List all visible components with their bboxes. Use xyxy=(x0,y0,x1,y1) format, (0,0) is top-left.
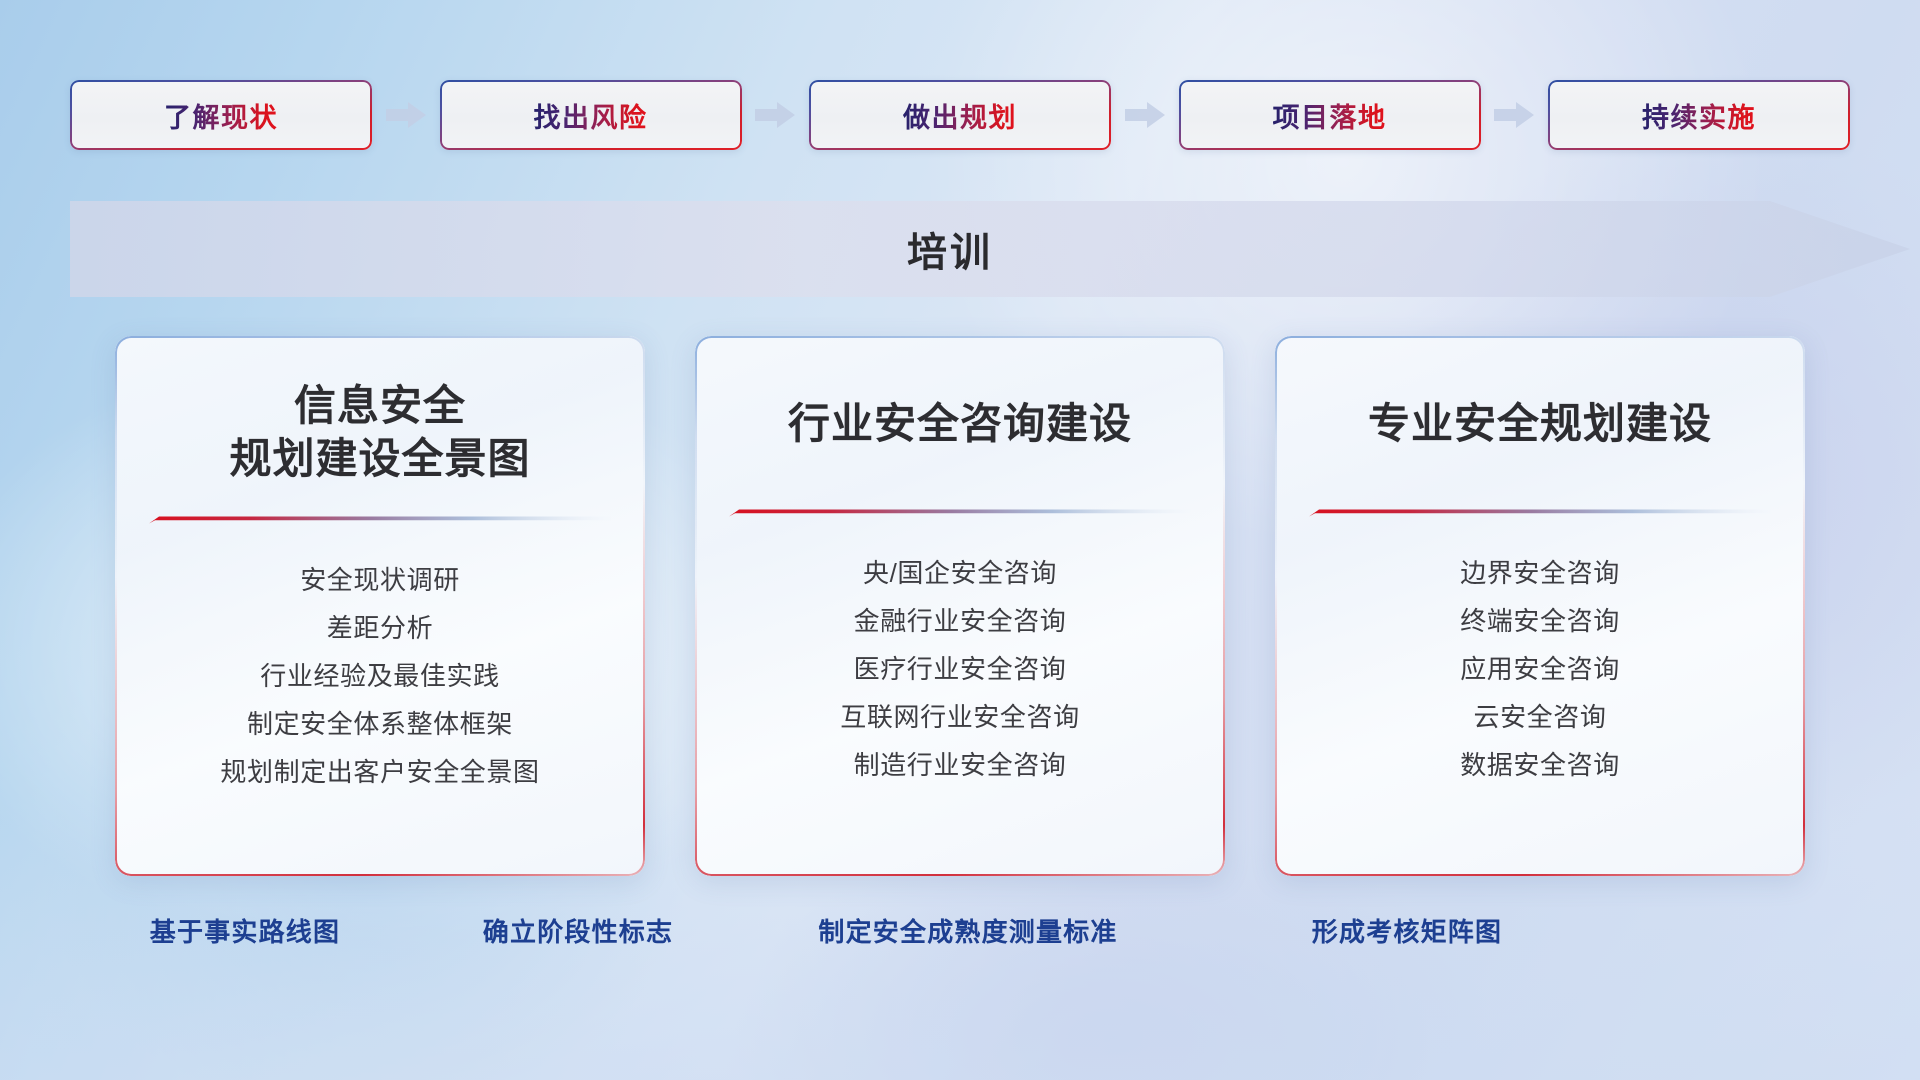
step-box-4[interactable]: 项目落地 xyxy=(1179,80,1481,150)
gradient-divider-icon xyxy=(149,514,611,527)
step-label-5: 持续实施 xyxy=(1642,96,1756,135)
card-divider-wrapper xyxy=(695,501,1225,527)
step-box-5[interactable]: 持续实施 xyxy=(1548,80,1850,150)
step-label-1: 了解现状 xyxy=(164,96,278,135)
card-information-security-panorama[interactable]: 信息安全 规划建设全景图 xyxy=(115,336,645,876)
card-professional-security-planning[interactable]: 专业安全规划建设 xyxy=(1275,336,1805,876)
footer-label-1: 基于事实路线图 xyxy=(150,912,340,949)
card-item-list: 安全现状调研 差距分析 行业经验及最佳实践 制定安全体系整体框架 规划制定出客户… xyxy=(115,534,645,796)
process-step-row: 了解现状 找出风险 做出规划 项目落地 持续实施 xyxy=(70,78,1850,152)
list-item: 安全现状调研 xyxy=(137,556,623,604)
list-item: 边界安全咨询 xyxy=(1297,549,1783,597)
card-item-list: 央/国企安全咨询 金融行业安全咨询 医疗行业安全咨询 互联网行业安全咨询 制造行… xyxy=(695,527,1225,789)
list-item: 数据安全咨询 xyxy=(1297,741,1783,789)
list-item: 规划制定出客户安全全景图 xyxy=(137,748,623,796)
list-item: 互联网行业安全咨询 xyxy=(717,693,1203,741)
card-title: 信息安全 规划建设全景图 xyxy=(115,336,645,486)
step-label-2: 找出风险 xyxy=(534,96,648,135)
card-title-line: 行业安全咨询建设 xyxy=(723,398,1197,451)
step-label-3: 做出规划 xyxy=(903,96,1017,135)
cards-row: 信息安全 规划建设全景图 xyxy=(0,336,1920,876)
list-item: 制造行业安全咨询 xyxy=(717,741,1203,789)
arrow-right-icon xyxy=(1125,100,1165,130)
card-title-line: 规划建设全景图 xyxy=(143,433,617,486)
training-banner: 培训 xyxy=(70,195,1910,303)
card-divider-wrapper xyxy=(1275,501,1805,527)
step-box-1[interactable]: 了解现状 xyxy=(70,80,372,150)
gradient-divider-icon xyxy=(1309,507,1771,520)
footer-label-2: 确立阶段性标志 xyxy=(483,912,673,949)
step-connector-1 xyxy=(372,100,440,130)
arrow-right-icon xyxy=(386,100,426,130)
card-divider-wrapper xyxy=(115,508,645,534)
step-connector-2 xyxy=(742,100,810,130)
list-item: 医疗行业安全咨询 xyxy=(717,645,1203,693)
card-title-line: 专业安全规划建设 xyxy=(1303,398,1777,451)
card-title-line: 信息安全 xyxy=(143,380,617,433)
step-label-4: 项目落地 xyxy=(1273,96,1387,135)
card-title: 专业安全规划建设 xyxy=(1275,336,1805,451)
list-item: 制定安全体系整体框架 xyxy=(137,700,623,748)
card-title: 行业安全咨询建设 xyxy=(695,336,1225,451)
list-item: 央/国企安全咨询 xyxy=(717,549,1203,597)
card-item-list: 边界安全咨询 终端安全咨询 应用安全咨询 云安全咨询 数据安全咨询 xyxy=(1275,527,1805,789)
list-item: 应用安全咨询 xyxy=(1297,645,1783,693)
card-industry-security-consulting[interactable]: 行业安全咨询建设 xyxy=(695,336,1225,876)
list-item: 终端安全咨询 xyxy=(1297,597,1783,645)
list-item: 差距分析 xyxy=(137,604,623,652)
arrow-right-icon xyxy=(755,100,795,130)
footer-label-row: 基于事实路线图 确立阶段性标志 制定安全成熟度测量标准 形成考核矩阵图 xyxy=(0,912,1920,956)
footer-label-4: 形成考核矩阵图 xyxy=(1312,912,1502,949)
step-box-3[interactable]: 做出规划 xyxy=(809,80,1111,150)
list-item: 行业经验及最佳实践 xyxy=(137,652,623,700)
footer-label-3: 制定安全成熟度测量标准 xyxy=(818,912,1117,949)
gradient-divider-icon xyxy=(729,507,1191,520)
step-connector-3 xyxy=(1111,100,1179,130)
list-item: 云安全咨询 xyxy=(1297,693,1783,741)
arrow-right-icon xyxy=(1494,100,1534,130)
step-box-2[interactable]: 找出风险 xyxy=(440,80,742,150)
training-banner-label: 培训 xyxy=(70,195,1830,303)
list-item: 金融行业安全咨询 xyxy=(717,597,1203,645)
step-connector-4 xyxy=(1481,100,1549,130)
